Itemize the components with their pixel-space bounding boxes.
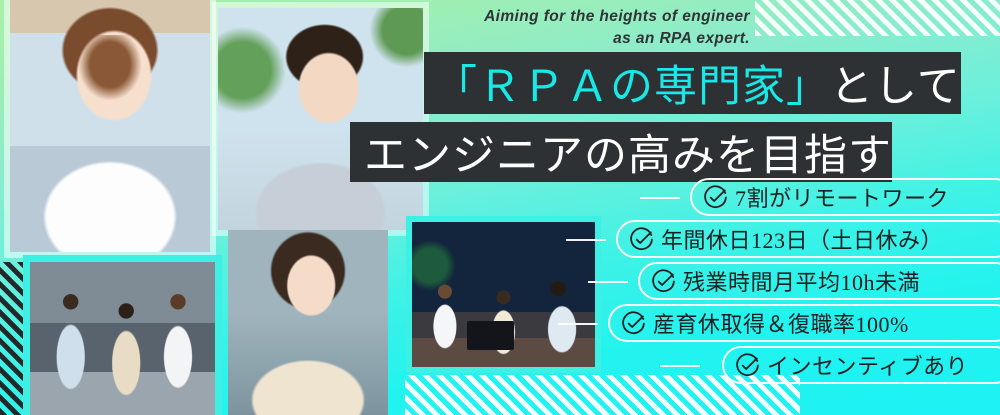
connector-dash — [558, 323, 598, 325]
benefit-item: 産育休取得＆復職率100% — [0, 304, 1000, 342]
check-circle-icon — [629, 227, 654, 252]
benefit-item: インセンティブあり — [0, 346, 1000, 384]
benefit-item: 7割がリモートワーク — [0, 178, 1000, 216]
connector-dash — [660, 365, 700, 367]
headline-line-2: エンジニアの高みを目指す — [350, 122, 892, 182]
check-circle-icon — [703, 185, 728, 210]
check-circle-icon — [735, 353, 760, 378]
check-circle-icon — [621, 311, 646, 336]
headline-line-1: 「ＲＰＡの専門家」として — [424, 52, 961, 114]
benefit-label: 産育休取得＆復職率100% — [653, 307, 909, 339]
benefits-list: 7割がリモートワーク 年間休日123日（土日休み） 残業時間月平均10h未満 — [0, 178, 1000, 388]
connector-dash — [566, 239, 606, 241]
benefit-item: 年間休日123日（土日休み） — [0, 220, 1000, 258]
benefit-item: 残業時間月平均10h未満 — [0, 262, 1000, 300]
connector-dash — [588, 281, 628, 283]
benefit-label: 7割がリモートワーク — [735, 181, 949, 213]
recruitment-banner: Aiming for the heights of engineer as an… — [0, 0, 1000, 415]
benefit-pill: インセンティブあり — [722, 346, 1000, 384]
benefit-label: 年間休日123日（土日休み） — [661, 223, 943, 255]
connector-dash — [640, 197, 680, 199]
headline-accent-text: 「ＲＰＡの専門家」 — [434, 52, 830, 114]
benefit-label: 残業時間月平均10h未満 — [683, 265, 920, 297]
benefit-pill: 産育休取得＆復職率100% — [608, 304, 1000, 342]
headline-line-1-suffix: として — [830, 52, 961, 114]
benefit-pill: 年間休日123日（土日休み） — [616, 220, 1000, 258]
benefit-pill: 残業時間月平均10h未満 — [638, 262, 1000, 300]
benefit-label: インセンティブあり — [767, 349, 968, 381]
eyebrow-text: Aiming for the heights of engineer as an… — [290, 6, 750, 50]
benefit-pill: 7割がリモートワーク — [690, 178, 1000, 216]
diagonal-stripes-top-right — [755, 0, 1000, 36]
check-circle-icon — [651, 269, 676, 294]
